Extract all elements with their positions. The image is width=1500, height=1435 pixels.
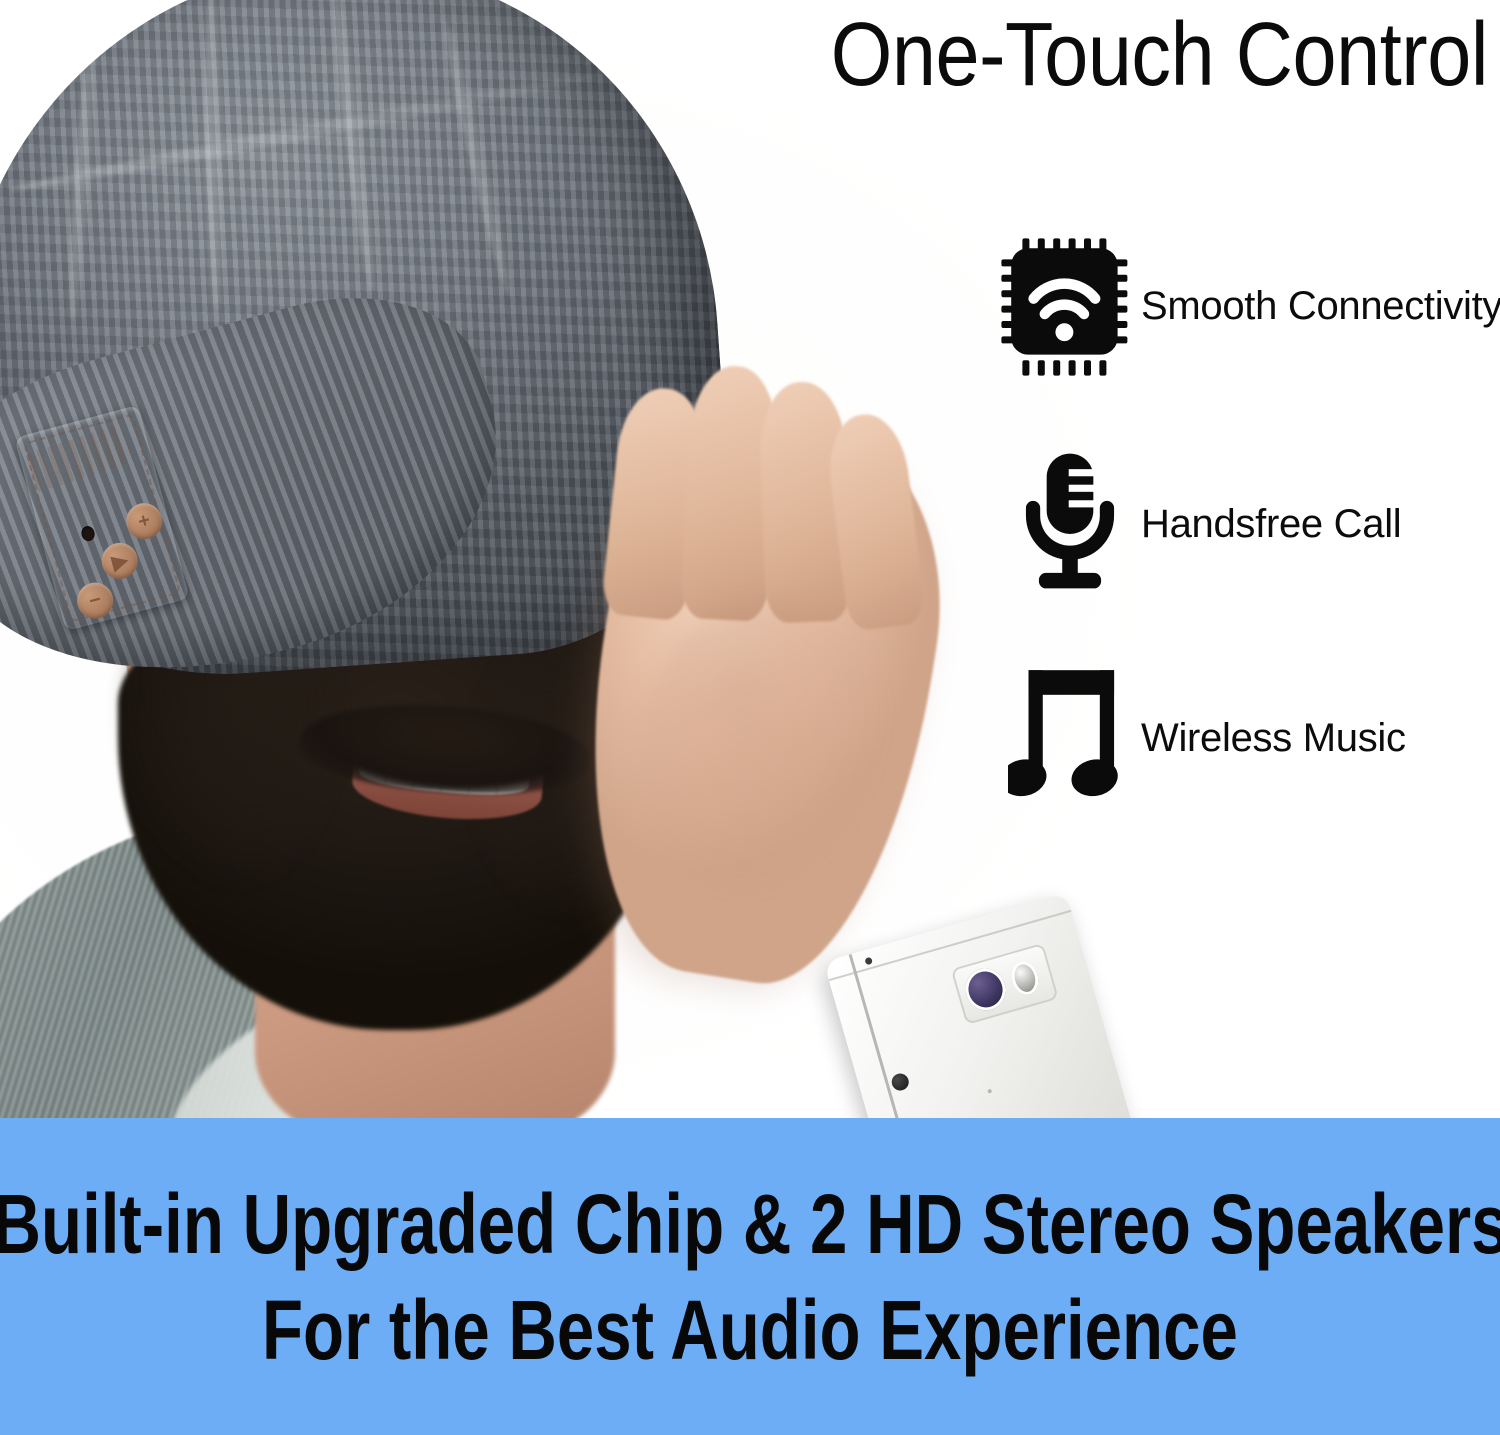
feature-item-wireless-music: Wireless Music bbox=[995, 660, 1500, 874]
feature-label: Handsfree Call bbox=[1141, 502, 1401, 547]
chip-wifi-icon bbox=[995, 232, 1145, 382]
feature-label: Wireless Music bbox=[1141, 716, 1406, 761]
bottom-banner: Built-in Upgraded Chip & 2 HD Stereo Spe… bbox=[0, 1118, 1500, 1435]
music-note-icon bbox=[995, 660, 1145, 810]
knit-rib bbox=[438, 20, 517, 296]
phone-pinhole bbox=[987, 1089, 992, 1094]
phone-rear-button bbox=[890, 1071, 911, 1092]
product-feature-poster: + ▶ − One-Touch Control bbox=[0, 0, 1500, 1435]
phone-sensor bbox=[864, 957, 873, 966]
feature-item-smooth-connectivity: Smooth Connectivity bbox=[995, 232, 1500, 446]
banner-line-2: For the Best Audio Experience bbox=[262, 1288, 1238, 1372]
camera-lens-icon bbox=[960, 964, 1010, 1015]
banner-line-1: Built-in Upgraded Chip & 2 HD Stereo Spe… bbox=[0, 1182, 1500, 1266]
palm-shadow bbox=[640, 600, 890, 900]
camera-flash-icon bbox=[1008, 958, 1042, 998]
phone-camera-module bbox=[951, 943, 1059, 1025]
feature-item-handsfree-call: Handsfree Call bbox=[995, 446, 1500, 660]
microphone-icon bbox=[995, 446, 1145, 596]
feature-list: Smooth Connectivity bbox=[995, 232, 1500, 874]
knit-rib-horizontal bbox=[7, 69, 599, 197]
feature-label: Smooth Connectivity bbox=[1141, 284, 1500, 329]
page-title: One-Touch Control bbox=[714, 8, 1488, 103]
knit-rib bbox=[327, 0, 381, 292]
